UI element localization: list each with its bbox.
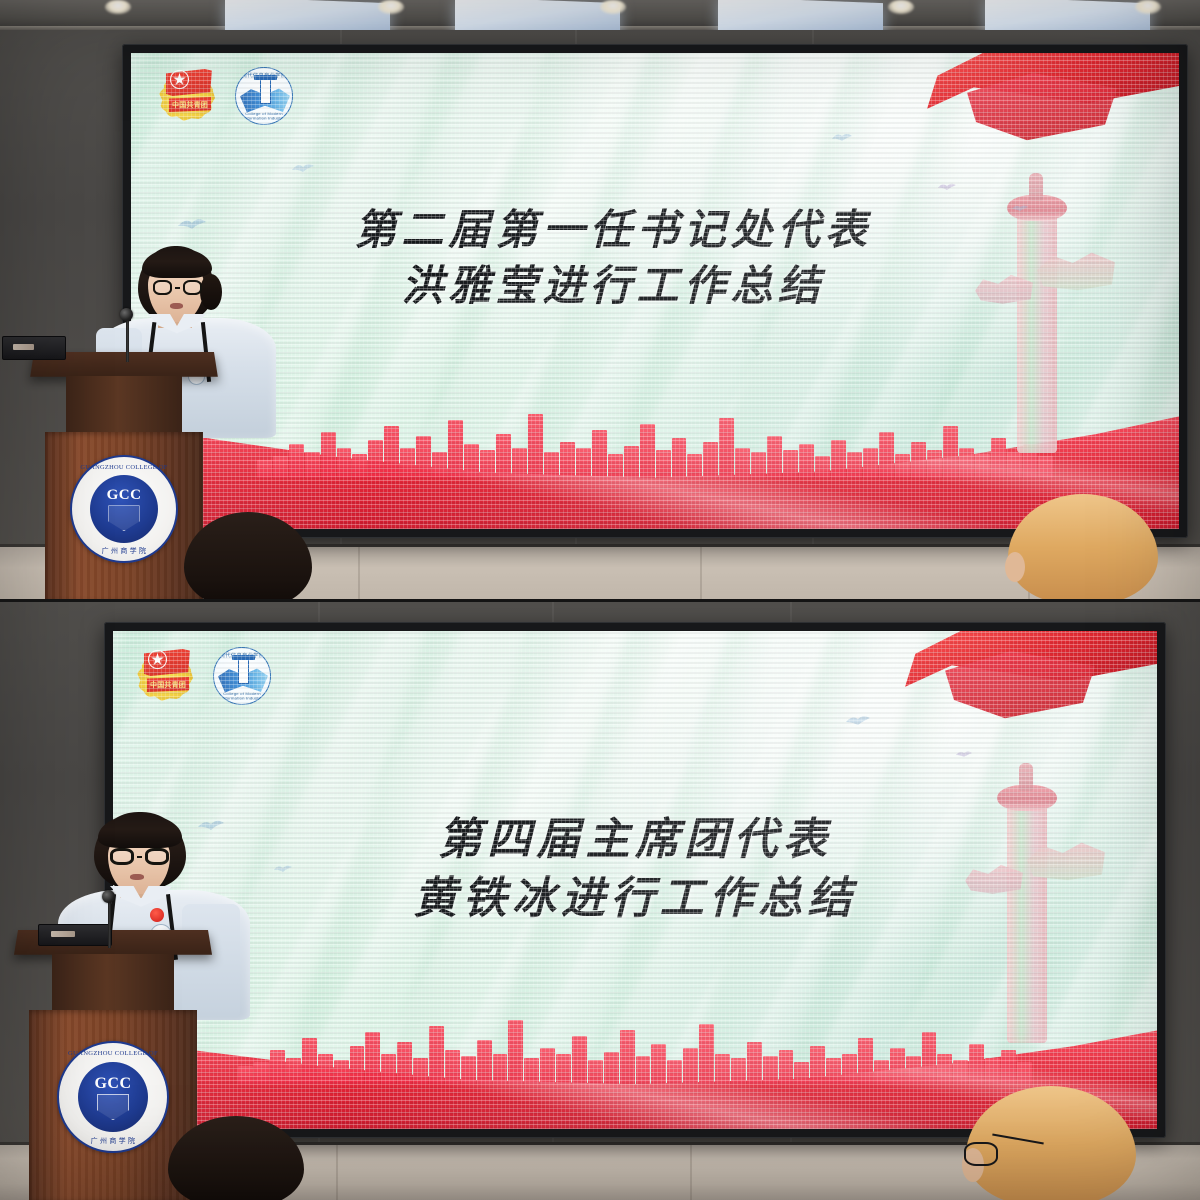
wainscot-seam: [690, 1145, 692, 1200]
gcc-college-seal: GUANGZHOU COLLEGE OF GCC 广 州 商 学 院: [70, 455, 178, 563]
dove-icon: [831, 131, 853, 143]
cyl-band-label: 中国共青团: [169, 97, 211, 112]
slide-canvas: 中国共青团 现代信息产业学院 College of Modern Informa…: [113, 631, 1157, 1129]
skyline-building: [667, 1060, 682, 1084]
skyline-building: [528, 414, 543, 478]
microphone-stand: [126, 318, 129, 362]
podium-body: GUANGZHOU COLLEGE OF GCC 广 州 商 学 院: [45, 432, 203, 600]
microphone-head: [120, 308, 133, 321]
skyline-building: [640, 424, 655, 478]
skyline-building: [592, 430, 607, 478]
skyline-building: [493, 1054, 508, 1084]
slide-logo-group: 中国共青团 现代信息产业学院 College of Modern Informa…: [159, 67, 293, 125]
audience-head: [1008, 494, 1158, 600]
collage-divider: [0, 599, 1200, 602]
gcc-monogram: GCC: [107, 487, 142, 504]
speaker-ponytail: [200, 274, 222, 310]
skyline-building: [687, 454, 702, 478]
modern-information-industry-college-emblem-icon: 现代信息产业学院 College of Modern Information I…: [235, 67, 293, 125]
seal-shield-icon: [97, 1094, 129, 1121]
skyline-building: [524, 1058, 539, 1084]
seal-ring-bottom-text: 广 州 商 学 院: [59, 1136, 167, 1146]
audience-eyeglasses: [964, 1142, 998, 1166]
skyline-building: [544, 452, 559, 478]
ceiling-downlight: [378, 0, 404, 14]
audience-head: [168, 1116, 304, 1200]
skyline-building: [496, 434, 511, 478]
top-photograph: 中国共青团 现代信息产业学院 College of Modern Informa…: [0, 0, 1200, 600]
communist-youth-league-emblem-icon: 中国共青团: [137, 647, 199, 705]
mii-emblem-en-text: College of Modern Information Industry: [236, 112, 292, 121]
podium-neck: [66, 376, 181, 438]
skyline-building: [767, 436, 782, 478]
seal-ring-bottom-text: 广 州 商 学 院: [72, 546, 176, 556]
skyline-building: [572, 1036, 587, 1084]
skyline-building: [560, 442, 575, 478]
red-ribbon-graphic: [895, 631, 1157, 755]
skyline-building: [624, 446, 639, 478]
skyline-building: [699, 1024, 714, 1084]
gcc-college-seal: GUANGZHOU COLLEGE OF GCC 广 州 商 学 院: [57, 1041, 169, 1153]
skyline-building: [508, 1020, 523, 1084]
podium-neck: [52, 954, 174, 1016]
cyl-band-label: 中国共青团: [147, 677, 189, 692]
speaker-youth-league-badge: [150, 908, 164, 922]
dove-icon: [177, 215, 207, 231]
skyline-building: [556, 1054, 571, 1084]
podium-laptop[interactable]: [38, 924, 112, 946]
ceiling-downlight: [600, 0, 626, 14]
seal-ring-top-text: GUANGZHOU COLLEGE OF: [59, 1050, 167, 1057]
ceiling-downlight: [105, 0, 131, 14]
modern-information-industry-college-emblem-icon: 现代信息产业学院 College of Modern Information I…: [213, 647, 271, 705]
slide-headline-line2: 黄铁冰进行工作总结: [249, 870, 1022, 929]
microphone-stand: [108, 900, 111, 948]
dove-icon: [955, 749, 973, 759]
speaker-mouth: [130, 874, 144, 880]
skyline-building: [512, 448, 527, 478]
seal-shield-icon: [108, 505, 139, 531]
skyline-building: [620, 1030, 635, 1084]
skyline-building: [747, 1042, 762, 1084]
microphone-head: [102, 890, 115, 903]
speaker-mouth: [170, 303, 183, 309]
speaker-glasses: [110, 848, 169, 865]
audience-member-blond-glasses: [966, 1086, 1136, 1200]
audience-member-dark-hair: [184, 512, 312, 600]
gcc-seal-inner: GCC: [78, 1062, 148, 1132]
skyline-building: [576, 448, 591, 478]
skyline-building: [719, 418, 734, 478]
skyline-building: [540, 1048, 555, 1084]
mii-emblem-en-text: College of Modern Information Industry: [214, 692, 270, 701]
photo-collage: 中国共青团 现代信息产业学院 College of Modern Informa…: [0, 0, 1200, 1200]
wainscot-seam: [336, 1145, 338, 1200]
skyline-building: [429, 1026, 444, 1084]
seal-ring-top-text: GUANGZHOU COLLEGE OF: [72, 464, 176, 471]
skyline-building: [636, 1056, 651, 1084]
audience-head: [184, 512, 312, 600]
audience-ear: [1005, 552, 1025, 582]
podium-laptop[interactable]: [2, 336, 66, 360]
skyline-building: [656, 450, 671, 478]
slide-headline: 第二届第一任书记处代表 洪雅莹进行工作总结: [204, 203, 1021, 316]
audience-member-dark-hair: [168, 1116, 304, 1200]
skyline-building: [608, 454, 623, 478]
skyline-building: [731, 1058, 746, 1084]
ceiling-downlight: [1135, 0, 1161, 14]
skyline-building: [477, 1040, 492, 1084]
wainscot-seam: [700, 547, 702, 600]
slide-logo-group: 中国共青团 现代信息产业学院 College of Modern Informa…: [137, 647, 271, 705]
ceiling-downlight: [888, 0, 914, 14]
slide-headline-line1: 第四届主席团代表: [438, 815, 832, 864]
skyline-building: [672, 438, 687, 478]
slide-headline-line2: 洪雅莹进行工作总结: [204, 259, 1021, 315]
skyline-building: [588, 1060, 603, 1084]
wainscot-seam: [358, 547, 360, 600]
speaker-glasses: [153, 280, 202, 295]
skyline-building: [715, 1054, 730, 1084]
skyline-building: [703, 442, 718, 478]
red-ribbon-graphic: [917, 53, 1179, 177]
skyline-building: [604, 1052, 619, 1084]
audience-member-blond-hair: [1008, 494, 1158, 600]
skyline-building: [651, 1044, 666, 1084]
skyline-building: [735, 448, 750, 478]
gcc-monogram: GCC: [94, 1075, 131, 1093]
speaker-hair-fringe: [98, 814, 182, 848]
communist-youth-league-emblem-icon: 中国共青团: [159, 67, 221, 125]
dove-icon: [937, 181, 957, 192]
slide-canvas: 中国共青团 现代信息产业学院 College of Modern Informa…: [131, 53, 1179, 529]
dove-icon: [845, 713, 871, 727]
skyline-building: [683, 1048, 698, 1084]
bottom-photograph: 中国共青团 现代信息产业学院 College of Modern Informa…: [0, 600, 1200, 1200]
slide-headline-line1: 第二届第一任书记处代表: [354, 208, 871, 254]
led-display-screen: 中国共青团 现代信息产业学院 College of Modern Informa…: [104, 622, 1166, 1138]
slide-headline: 第四届主席团代表 黄铁冰进行工作总结: [249, 811, 1022, 929]
gcc-seal-inner: GCC: [90, 475, 158, 543]
dove-icon: [291, 161, 315, 174]
speaker-hair-front: [142, 248, 212, 278]
